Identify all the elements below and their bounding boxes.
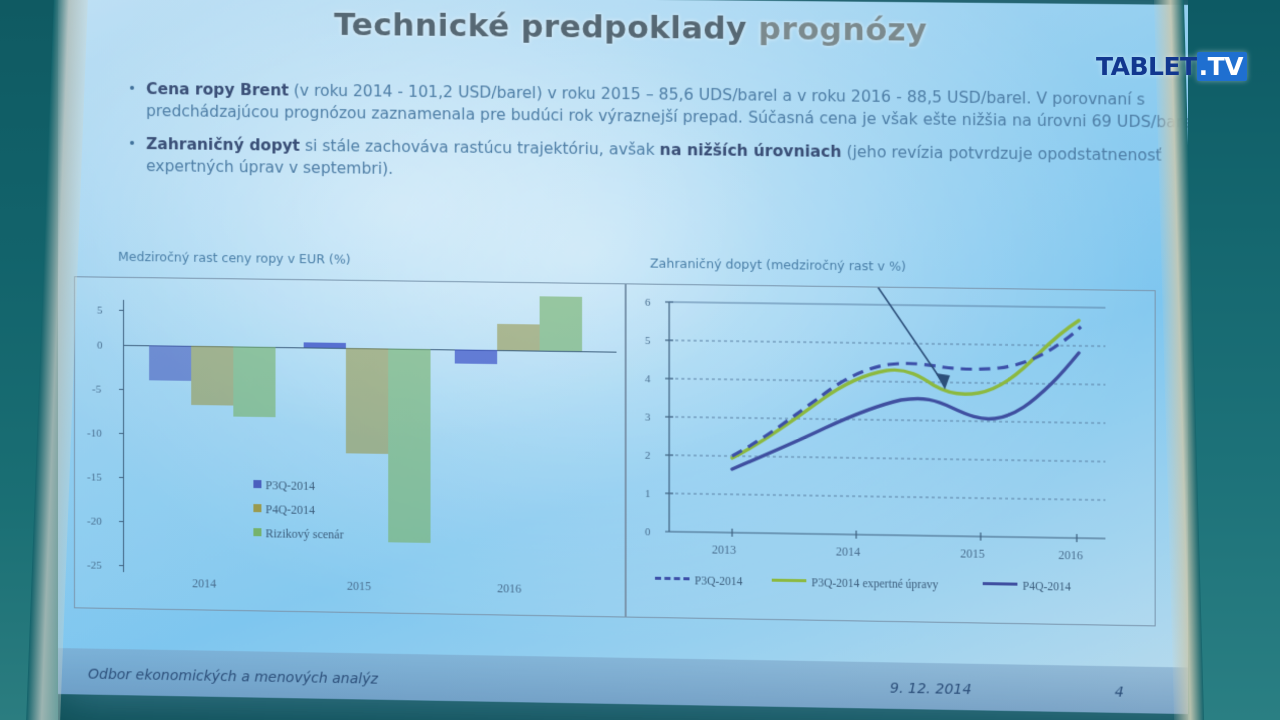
bullet-text-demand-bold: na nižších úrovniach [660,141,842,161]
fd-legend-p3q: P3Q-2014 [655,575,743,589]
bullet-lead-oil: Cena ropy Brent [146,80,289,100]
oil-ytick-mark [119,310,124,311]
bar-2014-p3q [149,345,191,381]
bullet-lead-demand: Zahraničný dopyt [146,135,300,155]
oil-price-chart-box: 5 0 -5 -10 -15 -20 -25 [74,276,626,617]
oil-ytick--10: -10 [87,427,102,439]
legend-blue-line-icon [983,582,1018,586]
slide-surface: Technické predpoklady prognózy Cena ropy… [56,0,1211,714]
bar-2015-p3q [304,342,346,348]
bullet-list: Cena ropy Brent (v roku 2014 - 101,2 USD… [94,78,1207,201]
oil-legend-p3q-label: P3Q-2014 [265,478,315,493]
tablet-tv-logo: TABLET.TV [1096,52,1247,82]
bar-2016-rizikovy [540,296,582,351]
fd-xtick-2015: 2015 [960,546,985,562]
legend-swatch-p4q-icon [253,504,261,512]
fd-xtick-2014: 2014 [836,544,860,560]
oil-xtick-2016: 2016 [497,581,521,596]
fd-xtick-2016: 2016 [1058,548,1083,564]
oil-ytick-5: 5 [97,305,103,317]
fd-legend-p4q: P4Q-2014 [983,580,1071,594]
logo-suffix: .TV [1197,52,1247,81]
legend-swatch-p3q-icon [253,480,261,488]
fd-gridline-1 [669,493,1105,500]
page-title-part2: prognózy [758,11,927,49]
oil-ytick--5: -5 [92,384,101,396]
page-title: Technické predpoklady prognózy [56,4,1211,52]
oil-xtick-2014: 2014 [192,576,216,591]
foreign-demand-chart-box: 6 5 4 3 2 1 0 [626,283,1156,626]
oil-legend-p4q: P4Q-2014 [253,502,315,518]
fd-gridline-3 [669,417,1105,423]
fd-legend-p3q-label: P3Q-2014 [695,575,743,588]
bar-2015-p4q [346,348,388,454]
bullet-item-foreign-demand: Zahraničný dopyt si stále zachováva rast… [94,133,1207,189]
foreign-demand-chart-title: Zahraničný dopyt (medziročný rast v %) [650,255,906,273]
fd-gridline-6 [669,302,1105,308]
fd-line-p3q-2014-expert [732,316,1079,463]
logo-word: TABLET [1096,52,1197,81]
oil-ytick-mark [119,389,124,390]
bar-2016-p4q [497,324,539,351]
fd-legend-p3q-expert-label: P3Q-2014 expertné úpravy [811,577,938,591]
oil-y-axis [123,300,124,572]
fd-line-p3q-2014 [732,322,1081,461]
oil-xtick-2015: 2015 [347,579,371,594]
oil-ytick--25: -25 [87,560,102,572]
oil-legend-rizikovy-label: Rizikový scenár [265,526,343,541]
footer-page-number: 4 [1115,684,1124,700]
bar-2014-rizikovy [233,346,275,417]
oil-price-chart-title: Medziročný rast ceny ropy v EUR (%) [118,249,351,267]
footer-date: 9. 12. 2014 [890,681,972,699]
bullet-dot-icon [130,141,134,145]
legend-green-line-icon [772,579,807,583]
oil-ytick-mark [119,433,124,434]
bullet-item-oil-price: Cena ropy Brent (v roku 2014 - 101,2 USD… [94,78,1207,133]
oil-legend-p3q: P3Q-2014 [253,478,315,494]
oil-ytick--20: -20 [87,515,102,527]
annotation-arrow-icon [814,284,950,389]
projected-slide-photo: Technické predpoklady prognózy Cena ropy… [0,0,1280,720]
foreign-demand-plot [627,284,1155,625]
oil-ytick-mark [119,477,124,478]
oil-legend-p4q-label: P4Q-2014 [265,502,315,517]
bar-2015-rizikovy [388,349,430,543]
oil-ytick--15: -15 [87,471,102,483]
bullet-text-demand-a: si stále zachováva rastúcu trajektóriu, … [300,137,660,159]
legend-swatch-rizikovy-icon [253,528,261,536]
fd-gridline-4 [669,379,1105,385]
oil-ytick-0: 0 [97,340,103,352]
room-right-wall [1188,0,1280,720]
fd-x-axis [665,532,1105,539]
bar-2014-p4q [191,346,233,406]
oil-legend-rizikovy: Rizikový scenár [253,526,343,542]
oil-ytick-mark [119,565,124,566]
page-title-part1: Technické predpoklady [334,7,747,47]
bullet-text-oil: (v roku 2014 - 101,2 USD/barel) v roku 2… [146,81,1201,131]
oil-ytick-mark [119,521,124,522]
bullet-dot-icon [130,86,134,90]
bar-2016-p3q [455,349,497,364]
fd-xtick-2013: 2013 [712,542,736,558]
fd-legend-p4q-label: P4Q-2014 [1023,581,1071,594]
fd-gridline-5 [669,340,1105,346]
legend-dashed-line-icon [655,577,689,581]
